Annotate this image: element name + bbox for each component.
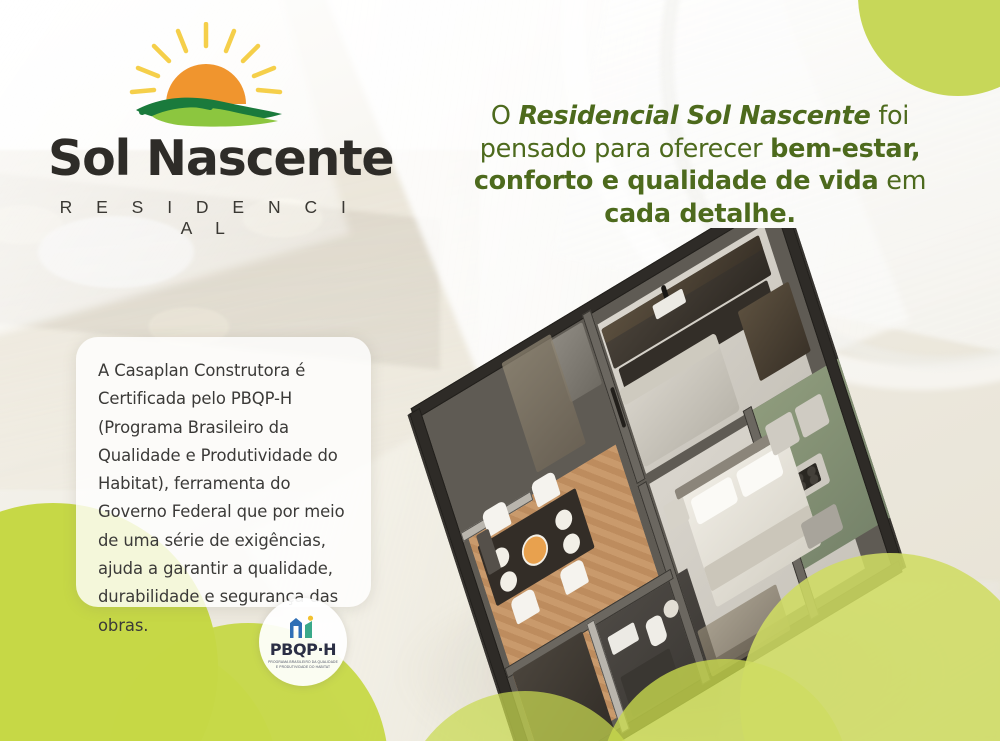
headline-line-3: conforto e qualidade de vida em xyxy=(438,165,962,198)
brand-logo: Sol Nascente R E S I D E N C I A L xyxy=(48,22,358,239)
headline-line-1: O Residencial Sol Nascente foi xyxy=(438,100,962,133)
headline-line1-suffix: foi xyxy=(871,101,910,131)
poster-canvas: Sol Nascente R E S I D E N C I A L O Res… xyxy=(0,0,1000,741)
sunrise-over-hills-icon xyxy=(106,22,306,128)
headline-line-4: cada detalhe. xyxy=(438,198,962,231)
headline-line2-regular: pensado para oferecer xyxy=(480,134,770,164)
info-card: A Casaplan Construtora é Certificada pel… xyxy=(76,337,371,607)
headline-block: O Residencial Sol Nascente foi pensado p… xyxy=(438,100,962,230)
headline-line2-bold: bem-estar, xyxy=(770,134,920,164)
headline-line1-prefix: O xyxy=(491,101,519,131)
headline-line3-regular: em xyxy=(878,166,926,196)
pbqph-badge-title: PBQP·H xyxy=(270,642,336,658)
pbqph-logo-icon xyxy=(289,615,317,639)
brand-tagline: R E S I D E N C I A L xyxy=(48,197,358,239)
headline-line3-bold: conforto e qualidade de vida xyxy=(474,166,879,196)
info-card-body: A Casaplan Construtora é Certificada pel… xyxy=(98,357,349,640)
brand-wordmark: Sol Nascente xyxy=(48,130,358,187)
pbqph-badge-subtitle: PROGRAMA BRASILEIRO DA QUALIDADE E PRODU… xyxy=(268,660,338,669)
headline-line-2: pensado para oferecer bem-estar, xyxy=(438,133,962,166)
headline-line1-emphasis: Residencial Sol Nascente xyxy=(518,101,870,131)
pbqph-badge: PBQP·H PROGRAMA BRASILEIRO DA QUALIDADE … xyxy=(259,598,347,686)
